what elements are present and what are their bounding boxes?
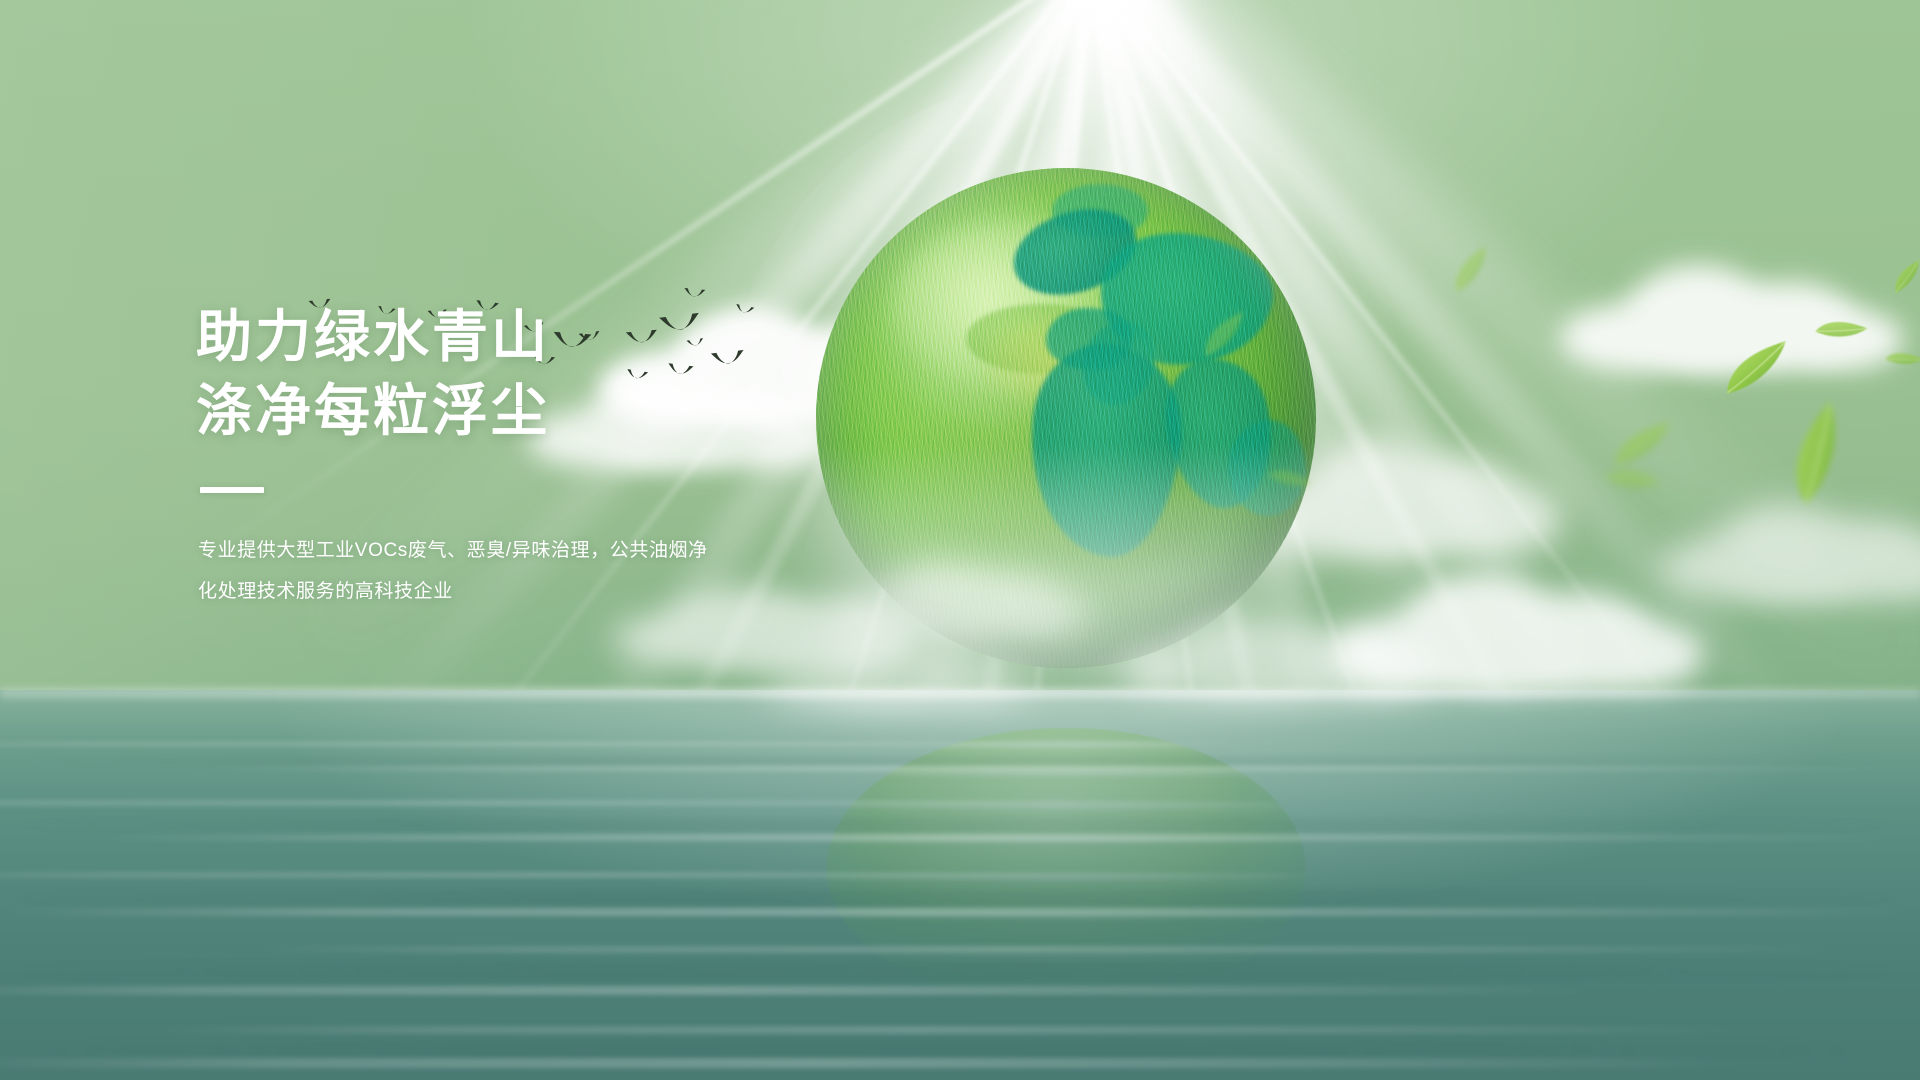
water-shadow-band [0, 890, 1920, 906]
banner-subtitle: 专业提供大型工业VOCs废气、恶臭/异味治理，公共油烟净 化处理技术服务的高科技… [198, 531, 916, 613]
cloud-puff [1582, 621, 1704, 688]
water-shadow-band [0, 818, 1920, 832]
bird-icon [683, 287, 706, 300]
water-ripple [0, 1058, 1750, 1068]
cloud-puff [1449, 626, 1586, 691]
eco-banner: 助力绿水青山 涤净每粒浮尘 专业提供大型工业VOCs废气、恶臭/异味治理，公共油… [0, 0, 1920, 1080]
water-ripple [150, 1026, 1750, 1034]
cloud [764, 640, 1024, 702]
cloud-puff [1460, 485, 1562, 552]
water-ripple [0, 742, 1300, 746]
headline-line-1: 助力绿水青山 [196, 300, 916, 374]
reflection-ripple [826, 954, 1306, 960]
water-ripple [200, 766, 1900, 771]
water-ripple [0, 986, 1600, 995]
cloud-puff [919, 595, 1010, 633]
cloud [1560, 258, 1890, 368]
cloud [1120, 612, 1420, 692]
water-ripple [0, 872, 1350, 878]
banner-copy: 助力绿水青山 涤净每粒浮尘 专业提供大型工业VOCs废气、恶臭/异味治理，公共油… [196, 300, 916, 613]
cloud-puff [1008, 592, 1090, 631]
subtitle-line-2: 化处理技术服务的高科技企业 [198, 572, 916, 613]
cloud-puff [1330, 649, 1432, 694]
cloud-puff [1759, 546, 1873, 598]
cloud-puff [850, 671, 949, 704]
water-shadow-band [0, 1040, 1920, 1060]
water-shadow-band [0, 962, 1920, 980]
cloud-puff [1219, 652, 1333, 695]
water-ripple [0, 908, 1920, 916]
water-ripple [0, 800, 1300, 806]
headline-divider [200, 487, 264, 493]
subtitle-line-1: 专业提供大型工业VOCs废气、恶臭/异味治理，公共油烟净 [198, 531, 916, 572]
cloud-puff [946, 669, 1034, 704]
headline-line-2: 涤净每粒浮尘 [196, 374, 916, 448]
cloud [1660, 498, 1920, 594]
water-ripple [100, 834, 1900, 841]
water-ripple [250, 946, 1850, 953]
water-shadow-band [0, 756, 1920, 766]
